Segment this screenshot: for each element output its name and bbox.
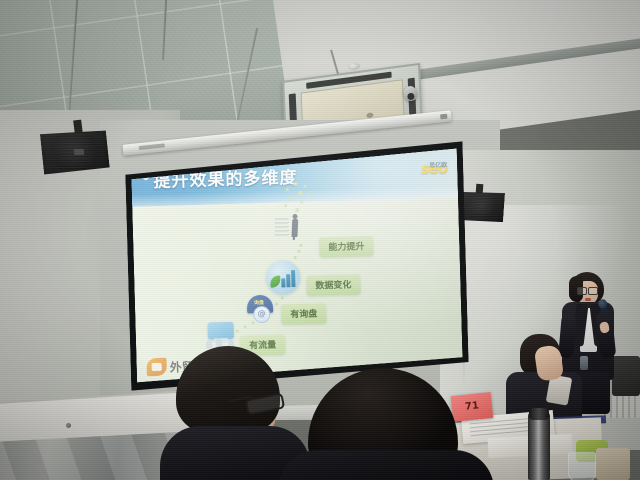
person-leg bbox=[293, 233, 296, 240]
person-rising-icon bbox=[288, 214, 302, 240]
housing-label bbox=[139, 143, 165, 150]
thermos-flask bbox=[528, 412, 550, 480]
thermos-cap bbox=[529, 408, 549, 420]
housing-end-cap bbox=[440, 114, 447, 120]
photo-scene: 提升效果的多维度 seo 思亿欧 bbox=[0, 0, 640, 480]
monitor-traffic-icon bbox=[203, 322, 238, 349]
attendee-front-right bbox=[298, 368, 474, 480]
wall-screw bbox=[66, 423, 71, 428]
ac-sensor bbox=[366, 112, 373, 118]
attendee-front-left-hair bbox=[176, 346, 280, 432]
motion-lines-icon bbox=[275, 218, 289, 236]
step-label-3: 有询盘 bbox=[281, 303, 327, 324]
footer-logo-mark-icon bbox=[146, 358, 166, 377]
step-label-2: 数据变化 bbox=[306, 274, 361, 296]
presenter-glasses-icon bbox=[577, 287, 598, 293]
at-inquiry-icon: 询盘 @ bbox=[245, 295, 276, 324]
speaker-grill bbox=[460, 193, 502, 220]
speaker-left bbox=[40, 131, 111, 175]
attendee-front-right-shoulders bbox=[278, 450, 494, 480]
drinking-glass bbox=[568, 452, 596, 480]
paper-cup bbox=[596, 448, 630, 480]
speaker-badge bbox=[73, 149, 84, 155]
chart-leaf bbox=[270, 275, 280, 287]
monitor-screen bbox=[207, 322, 233, 340]
step-label-1: 能力提升 bbox=[319, 236, 374, 258]
presenter-lips bbox=[585, 298, 591, 301]
at-symbol-icon: @ bbox=[253, 306, 270, 323]
attendee-front-left bbox=[166, 346, 306, 480]
